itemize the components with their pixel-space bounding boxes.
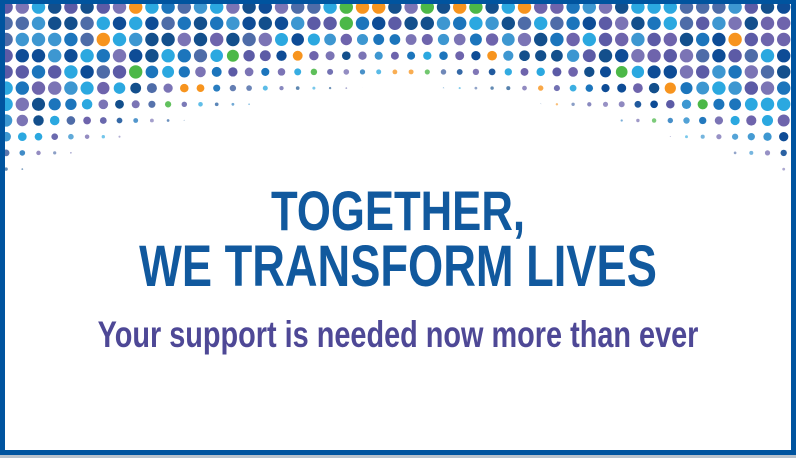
fundraising-banner: TOGETHER, WE TRANSFORM LIVES Your suppor… <box>0 0 796 458</box>
border-bottom <box>0 450 796 455</box>
subheadline: Your support is needed now more than eve… <box>88 316 709 353</box>
headline-line-1: TOGETHER, <box>88 185 709 238</box>
headline-line-2: WE TRANSFORM LIVES <box>88 240 709 295</box>
page-title: TOGETHER, WE TRANSFORM LIVES <box>0 185 796 294</box>
banner-copy: TOGETHER, WE TRANSFORM LIVES Your suppor… <box>0 185 796 353</box>
halftone-dot-arch-decoration <box>0 0 796 200</box>
